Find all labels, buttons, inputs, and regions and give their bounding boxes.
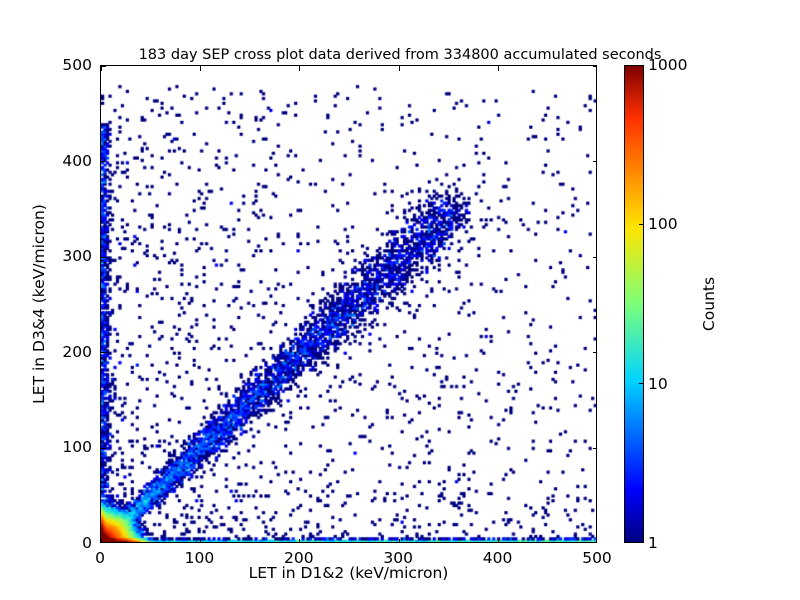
- x-tick-mark: [399, 539, 400, 543]
- plot-axes-frame: [100, 65, 597, 543]
- x-tick-mark: [100, 66, 101, 71]
- y-axis-label: LET in D3&4 (keV/micron): [30, 65, 52, 543]
- colorbar-tick-label: 100: [648, 215, 678, 233]
- y-tick-mark: [593, 161, 597, 162]
- y-tick-mark: [593, 257, 597, 258]
- colorbar-tick-mark: [639, 383, 644, 384]
- colorbar-axis-label: Counts: [700, 65, 722, 543]
- scatter-density-canvas: [101, 66, 596, 542]
- y-tick-mark: [101, 352, 106, 353]
- colorbar-tick-label: 10: [648, 375, 668, 393]
- y-tick-mark: [593, 448, 597, 449]
- y-tick-mark: [593, 65, 597, 66]
- x-tick-mark: [498, 66, 499, 71]
- y-tick-mark: [593, 352, 597, 353]
- x-tick-mark: [200, 539, 201, 543]
- y-tick-mark: [101, 257, 106, 258]
- y-tick-mark: [101, 161, 106, 162]
- figure-canvas: 183 day SEP cross plot data derived from…: [0, 0, 800, 600]
- x-tick-mark: [299, 539, 300, 543]
- colorbar-gradient: [625, 66, 643, 542]
- y-tick-mark: [101, 65, 106, 66]
- x-axis-label: LET in D1&2 (keV/micron): [100, 564, 597, 582]
- colorbar-tick-label: 1000: [648, 56, 687, 74]
- y-tick-mark: [101, 448, 106, 449]
- x-tick-mark: [399, 66, 400, 71]
- x-tick-mark: [200, 66, 201, 71]
- x-tick-mark: [498, 539, 499, 543]
- colorbar: [624, 65, 644, 543]
- colorbar-tick-mark: [639, 224, 644, 225]
- x-tick-mark: [299, 66, 300, 71]
- x-tick-mark: [100, 539, 101, 543]
- colorbar-tick-label: 1: [648, 534, 658, 552]
